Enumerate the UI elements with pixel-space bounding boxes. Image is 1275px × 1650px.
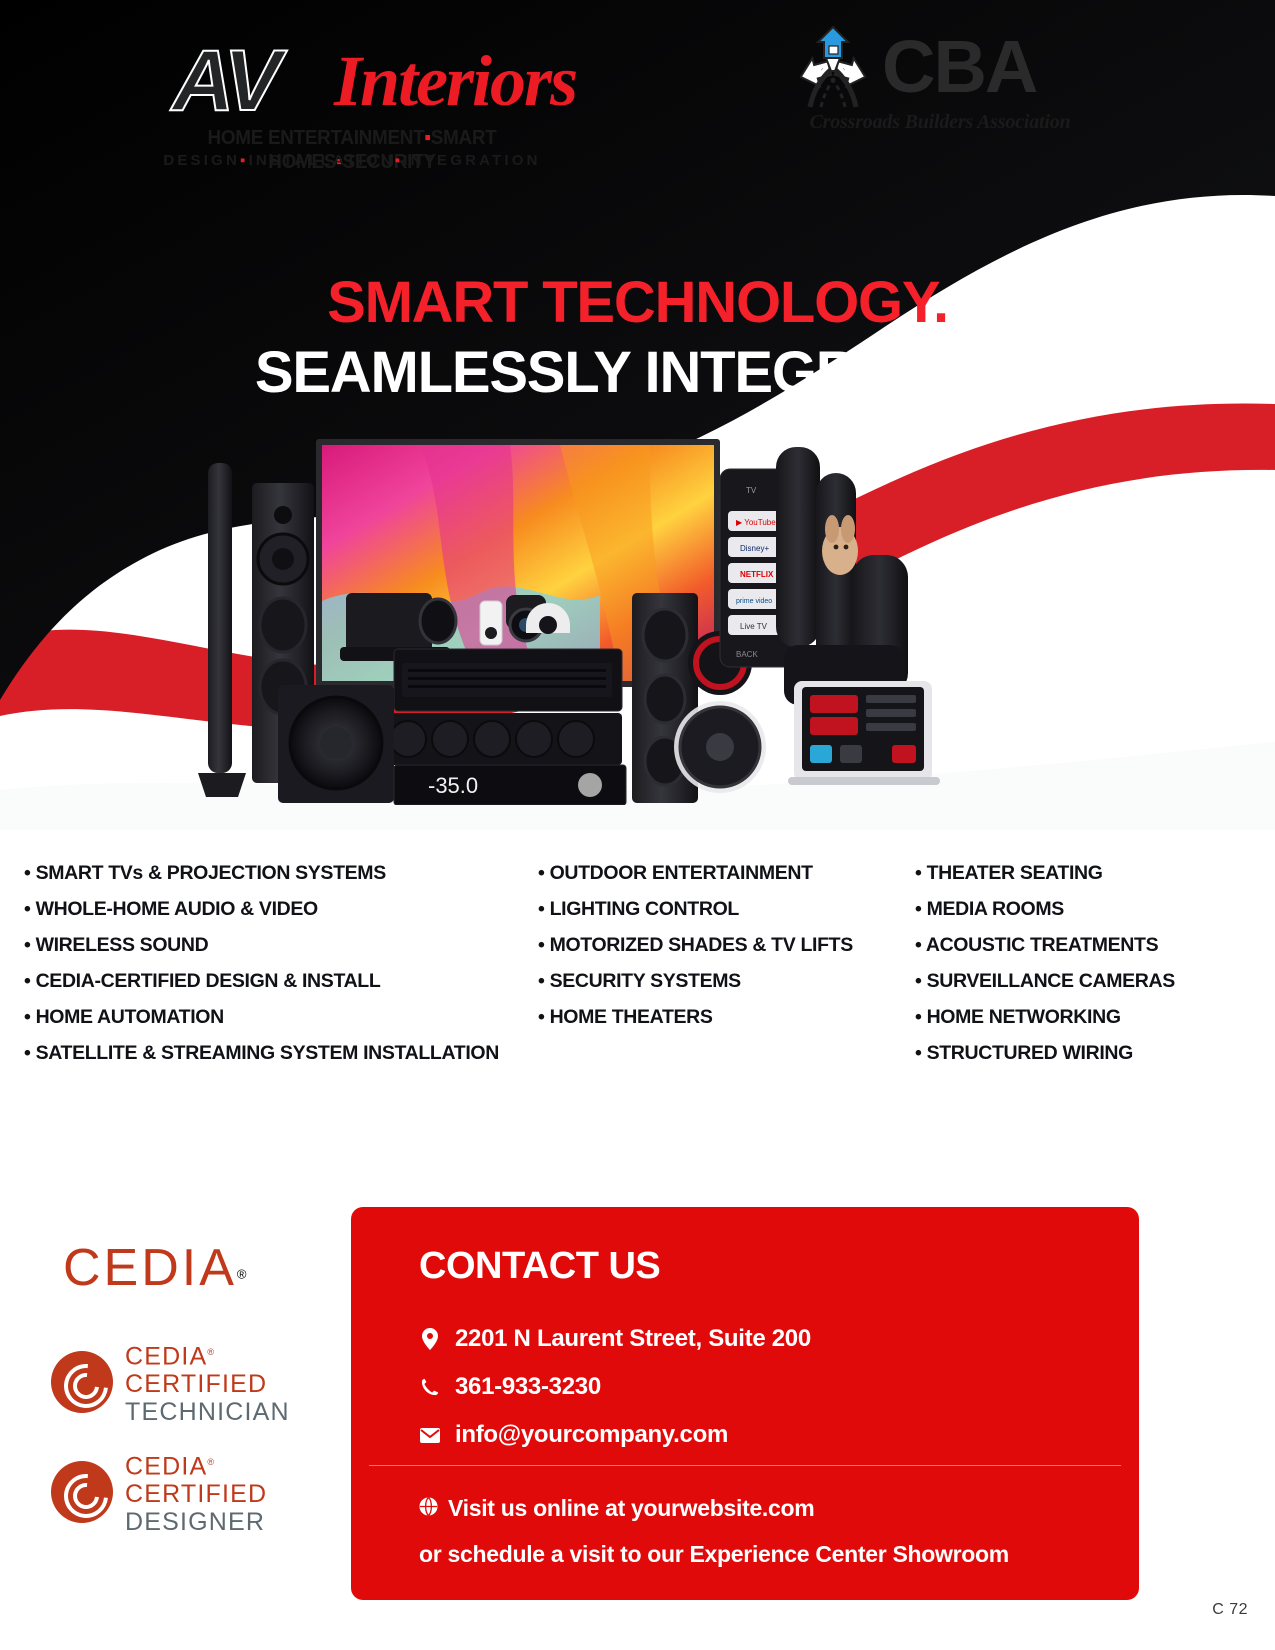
cba-logo: CBA Crossroads Builders Association bbox=[790, 24, 1090, 136]
services-lists: • SMART TVs & PROJECTION SYSTEMS • WHOLE… bbox=[0, 855, 1275, 1085]
service-label: WHOLE-HOME AUDIO & VIDEO bbox=[36, 898, 318, 920]
badge-line-3: DESIGNER bbox=[125, 1508, 267, 1536]
remote-app-prime: prime video bbox=[736, 598, 772, 605]
service-label: SATELLITE & STREAMING SYSTEM INSTALLATIO… bbox=[36, 1042, 499, 1064]
service-item: • CEDIA-CERTIFIED DESIGN & INSTALL bbox=[24, 963, 524, 999]
envelope-icon bbox=[419, 1428, 441, 1443]
remote-app-netflix: NETFLIX bbox=[740, 570, 774, 579]
round-speaker bbox=[674, 701, 766, 793]
bullet: • bbox=[24, 1042, 30, 1064]
service-item: • HOME AUTOMATION bbox=[24, 999, 524, 1035]
services-column-2: • OUTDOOR ENTERTAINMENT • LIGHTING CONTR… bbox=[538, 855, 908, 1035]
bullet: • bbox=[538, 934, 544, 956]
bullet: • bbox=[538, 1006, 544, 1028]
badge-line-2: CERTIFIED bbox=[125, 1370, 290, 1398]
contact-divider bbox=[369, 1465, 1121, 1466]
registered-mark: ® bbox=[207, 1457, 215, 1467]
service-label: MEDIA ROOMS bbox=[927, 898, 1064, 920]
contact-title: CONTACT US bbox=[419, 1245, 660, 1288]
service-item: • ACOUSTIC TREATMENTS bbox=[915, 927, 1265, 963]
service-item: • STRUCTURED WIRING bbox=[915, 1035, 1265, 1071]
bullet: • bbox=[915, 862, 921, 884]
badge-line-1-text: CEDIA bbox=[125, 1452, 207, 1480]
theater-seating bbox=[776, 447, 908, 705]
badge-line-1: CEDIA® bbox=[125, 1448, 267, 1480]
service-item: • SURVEILLANCE CAMERAS bbox=[915, 963, 1265, 999]
service-item: • OUTDOOR ENTERTAINMENT bbox=[538, 855, 908, 891]
contact-email[interactable]: info@yourcompany.com bbox=[419, 1411, 1099, 1459]
badge-line-3: TECHNICIAN bbox=[125, 1398, 290, 1426]
av-receiver: -35.0 bbox=[394, 765, 626, 805]
service-label: SURVEILLANCE CAMERAS bbox=[927, 970, 1175, 992]
remote-top-label: TV bbox=[746, 486, 757, 495]
hero-background: AV Interiors HOME ENTERTAINMENT▪SMART HO… bbox=[0, 0, 1275, 830]
service-label: OUTDOOR ENTERTAINMENT bbox=[550, 862, 813, 884]
tagline2-part-2: INSTALLATION bbox=[249, 152, 395, 169]
hero-headline: SMART TECHNOLOGY. SEAMLESSLY INTEGRATED. bbox=[0, 272, 1275, 404]
headline-line-1: SMART TECHNOLOGY. bbox=[0, 272, 1275, 334]
service-label: MOTORIZED SHADES & TV LIFTS bbox=[550, 934, 853, 956]
service-label: CEDIA-CERTIFIED DESIGN & INSTALL bbox=[36, 970, 381, 992]
map-pin-icon bbox=[419, 1328, 441, 1350]
crossroads-house-icon bbox=[790, 25, 876, 109]
remote-app-disney: Disney+ bbox=[740, 544, 769, 553]
badge-lines: CEDIA® CERTIFIED DESIGNER bbox=[125, 1448, 267, 1536]
soundbar-tower bbox=[198, 463, 246, 797]
contact-showroom-note: or schedule a visit to our Experience Ce… bbox=[419, 1531, 1109, 1577]
flyer-page: AV Interiors HOME ENTERTAINMENT▪SMART HO… bbox=[0, 0, 1275, 1650]
cedia-certified-technician-badge: CEDIA® CERTIFIED TECHNICIAN bbox=[51, 1338, 290, 1426]
av-logo-mark: AV bbox=[172, 32, 277, 131]
contact-website-text: Visit us online at yourwebsite.com bbox=[448, 1485, 814, 1531]
service-label: SMART TVs & PROJECTION SYSTEMS bbox=[36, 862, 386, 884]
service-label: ACOUSTIC TREATMENTS bbox=[926, 934, 1158, 956]
cedia-c-icon bbox=[51, 1351, 113, 1413]
cedia-certified-designer-badge: CEDIA® CERTIFIED DESIGNER bbox=[51, 1448, 267, 1536]
service-label: HOME NETWORKING bbox=[927, 1006, 1121, 1028]
service-label: THEATER SEATING bbox=[927, 862, 1103, 884]
service-item: • MOTORIZED SHADES & TV LIFTS bbox=[538, 927, 908, 963]
bullet: • bbox=[915, 898, 921, 920]
contact-address-text: 2201 N Laurent Street, Suite 200 bbox=[455, 1315, 811, 1363]
contact-email-text: info@yourcompany.com bbox=[455, 1411, 728, 1459]
bullet: • bbox=[24, 970, 30, 992]
bullet: • bbox=[538, 862, 544, 884]
contact-phone[interactable]: 361-933-3230 bbox=[419, 1363, 1099, 1411]
contact-showroom-text: or schedule a visit to our Experience Ce… bbox=[419, 1531, 1009, 1577]
subwoofer bbox=[278, 685, 394, 803]
service-item: • LIGHTING CONTROL bbox=[538, 891, 908, 927]
service-item: • THEATER SEATING bbox=[915, 855, 1265, 891]
bullet: • bbox=[915, 1006, 921, 1028]
remote-app-youtube: ▶ YouTube bbox=[736, 518, 776, 527]
badge-line-1: CEDIA® bbox=[125, 1338, 290, 1370]
contact-address: 2201 N Laurent Street, Suite 200 bbox=[419, 1315, 1099, 1363]
bullet: • bbox=[915, 970, 921, 992]
phone-icon bbox=[419, 1377, 441, 1397]
tagline-part-1: HOME ENTERTAINMENT bbox=[208, 126, 425, 149]
bullet: • bbox=[915, 1042, 921, 1064]
remote-back-label: BACK bbox=[736, 650, 758, 659]
service-item: • MEDIA ROOMS bbox=[915, 891, 1265, 927]
service-item: • SATELLITE & STREAMING SYSTEM INSTALLAT… bbox=[24, 1035, 524, 1071]
service-label: HOME THEATERS bbox=[550, 1006, 713, 1028]
registered-mark: ® bbox=[207, 1347, 215, 1357]
bullet: • bbox=[24, 862, 30, 884]
service-item: • WIRELESS SOUND bbox=[24, 927, 524, 963]
registered-mark: ® bbox=[237, 1267, 247, 1282]
remote-app-livetv: Live TV bbox=[740, 622, 768, 631]
service-item: • WHOLE-HOME AUDIO & VIDEO bbox=[24, 891, 524, 927]
service-item: • HOME THEATERS bbox=[538, 999, 908, 1035]
service-item: • HOME NETWORKING bbox=[915, 999, 1265, 1035]
services-column-1: • SMART TVs & PROJECTION SYSTEMS • WHOLE… bbox=[24, 855, 524, 1071]
cedia-wordmark: CEDIA® bbox=[63, 1240, 283, 1300]
av-logo-tagline-secondary: DESIGN▪INSTALLATION▪INTEGRATION bbox=[152, 152, 552, 169]
contact-website[interactable]: Visit us online at yourwebsite.com bbox=[419, 1485, 1109, 1531]
page-code: C 72 bbox=[1212, 1601, 1248, 1619]
badge-line-2: CERTIFIED bbox=[125, 1480, 267, 1508]
services-column-3: • THEATER SEATING • MEDIA ROOMS • ACOUST… bbox=[915, 855, 1265, 1071]
cedia-wordmark-text: CEDIA bbox=[63, 1239, 237, 1297]
av-interiors-logo: AV Interiors HOME ENTERTAINMENT▪SMART HO… bbox=[152, 32, 552, 172]
service-label: WIRELESS SOUND bbox=[36, 934, 209, 956]
service-label: STRUCTURED WIRING bbox=[927, 1042, 1133, 1064]
tagline2-separator: ▪ bbox=[395, 152, 404, 169]
av-chassis bbox=[394, 649, 622, 711]
home-av-equipment-montage: -35.0 bbox=[180, 425, 980, 805]
cedia-certifications: CEDIA® CEDIA® CERTIFIED TECHNICIAN CEDIA… bbox=[45, 1228, 325, 1548]
bullet: • bbox=[538, 970, 544, 992]
tagline2-part-1: DESIGN bbox=[163, 152, 240, 169]
bullet: • bbox=[915, 934, 921, 956]
badge-lines: CEDIA® CERTIFIED TECHNICIAN bbox=[125, 1338, 290, 1426]
service-item: • SMART TVs & PROJECTION SYSTEMS bbox=[24, 855, 524, 891]
contact-phone-text: 361-933-3230 bbox=[455, 1363, 601, 1411]
globe-icon bbox=[419, 1485, 438, 1531]
touch-control-panel bbox=[788, 681, 940, 785]
service-item: • SECURITY SYSTEMS bbox=[538, 963, 908, 999]
bullet: • bbox=[24, 898, 30, 920]
contact-footer: Visit us online at yourwebsite.com or sc… bbox=[419, 1485, 1109, 1577]
cba-full-name: Crossroads Builders Association bbox=[790, 111, 1090, 134]
service-label: HOME AUTOMATION bbox=[36, 1006, 224, 1028]
cba-acronym: CBA bbox=[882, 29, 1036, 105]
receiver-volume-readout: -35.0 bbox=[428, 773, 478, 798]
cedia-c-icon bbox=[51, 1461, 113, 1523]
product-montage: -35.0 bbox=[180, 425, 980, 805]
tagline2-separator: ▪ bbox=[240, 152, 249, 169]
bullet: • bbox=[24, 1006, 30, 1028]
bullet: • bbox=[24, 934, 30, 956]
service-label: SECURITY SYSTEMS bbox=[550, 970, 741, 992]
av-logo-script: Interiors bbox=[334, 40, 576, 123]
service-label: LIGHTING CONTROL bbox=[550, 898, 739, 920]
bullet: • bbox=[538, 898, 544, 920]
tagline2-part-3: INTEGRATION bbox=[403, 152, 540, 169]
contact-details: 2201 N Laurent Street, Suite 200 361-933… bbox=[419, 1315, 1099, 1459]
headline-line-2: SEAMLESSLY INTEGRATED. bbox=[0, 342, 1275, 404]
contact-card: CONTACT US 2201 N Laurent Street, Suite … bbox=[351, 1207, 1139, 1600]
badge-line-1-text: CEDIA bbox=[125, 1342, 207, 1370]
